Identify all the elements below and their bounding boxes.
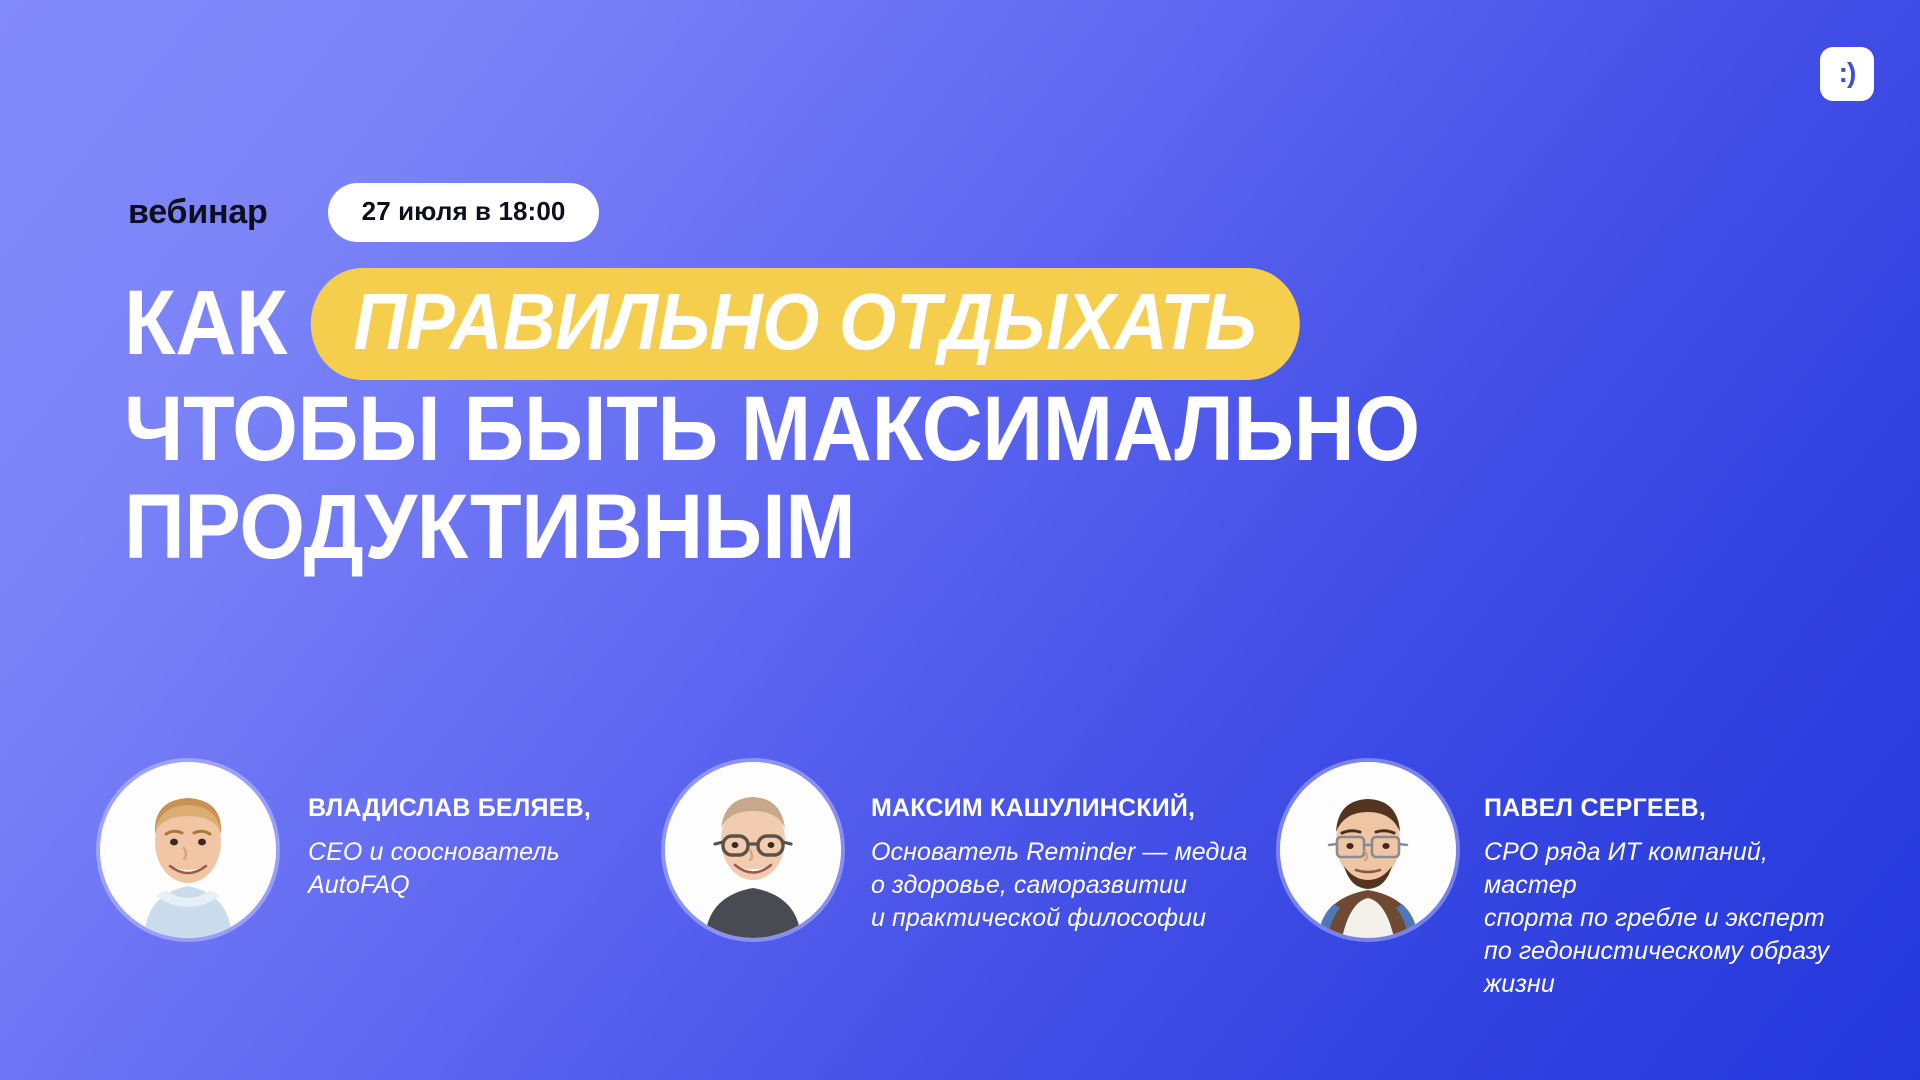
speaker-role: CEO и сооснователь AutoFAQ (308, 836, 591, 902)
headline-word-kak: КАК (124, 276, 287, 372)
headline-line-3: ПРОДУКТИВНЫМ (124, 480, 1596, 576)
event-date-badge: 27 июля в 18:00 (328, 183, 600, 242)
speakers-row: ВЛАДИСЛАВ БЕЛЯЕВ, CEO и сооснователь Aut… (100, 762, 1860, 1001)
speaker-name: МАКСИМ КАШУЛИНСКИЙ, (871, 794, 1247, 823)
speaker-photo-maksim-kashulinskiy (665, 762, 841, 938)
speaker-text: ПАВЕЛ СЕРГЕЕВ, CPO ряда ИТ компаний, мас… (1456, 762, 1860, 1001)
speaker-text: МАКСИМ КАШУЛИНСКИЙ, Основатель Reminder … (841, 762, 1247, 935)
speaker-card: ВЛАДИСЛАВ БЕЛЯЕВ, CEO и сооснователь Aut… (100, 762, 665, 938)
headline-highlight-pill: ПРАВИЛЬНО ОТДЫХАТЬ (311, 268, 1300, 380)
headline-block: КАК ПРАВИЛЬНО ОТДЫХАТЬ ЧТОБЫ БЫТЬ МАКСИМ… (124, 268, 1724, 575)
headline-line-2: ЧТОБЫ БЫТЬ МАКСИМАЛЬНО (124, 382, 1596, 478)
event-type-label: вебинар (128, 193, 268, 232)
webinar-promo-poster: :) вебинар 27 июля в 18:00 КАК ПРАВИЛЬНО… (0, 0, 1920, 1080)
speaker-card: ПАВЕЛ СЕРГЕЕВ, CPO ряда ИТ компаний, мас… (1280, 762, 1860, 1001)
headline-line-1: КАК ПРАВИЛЬНО ОТДЫХАТЬ (124, 268, 1596, 380)
smiley-face-icon: :) (1839, 59, 1856, 87)
speaker-card: МАКСИМ КАШУЛИНСКИЙ, Основатель Reminder … (665, 762, 1280, 938)
kicker-row: вебинар 27 июля в 18:00 (128, 183, 599, 242)
speaker-text: ВЛАДИСЛАВ БЕЛЯЕВ, CEO и сооснователь Aut… (276, 762, 591, 902)
speaker-role: Основатель Reminder — медиа о здоровье, … (871, 836, 1247, 935)
speaker-photo-vladislav-belyaev (100, 762, 276, 938)
speaker-photo-pavel-sergeev (1280, 762, 1456, 938)
speaker-name: ВЛАДИСЛАВ БЕЛЯЕВ, (308, 794, 591, 823)
speaker-name: ПАВЕЛ СЕРГЕЕВ, (1484, 794, 1860, 823)
speaker-role: CPO ряда ИТ компаний, мастер спорта по г… (1484, 836, 1860, 1001)
brand-logo: :) (1820, 47, 1874, 101)
